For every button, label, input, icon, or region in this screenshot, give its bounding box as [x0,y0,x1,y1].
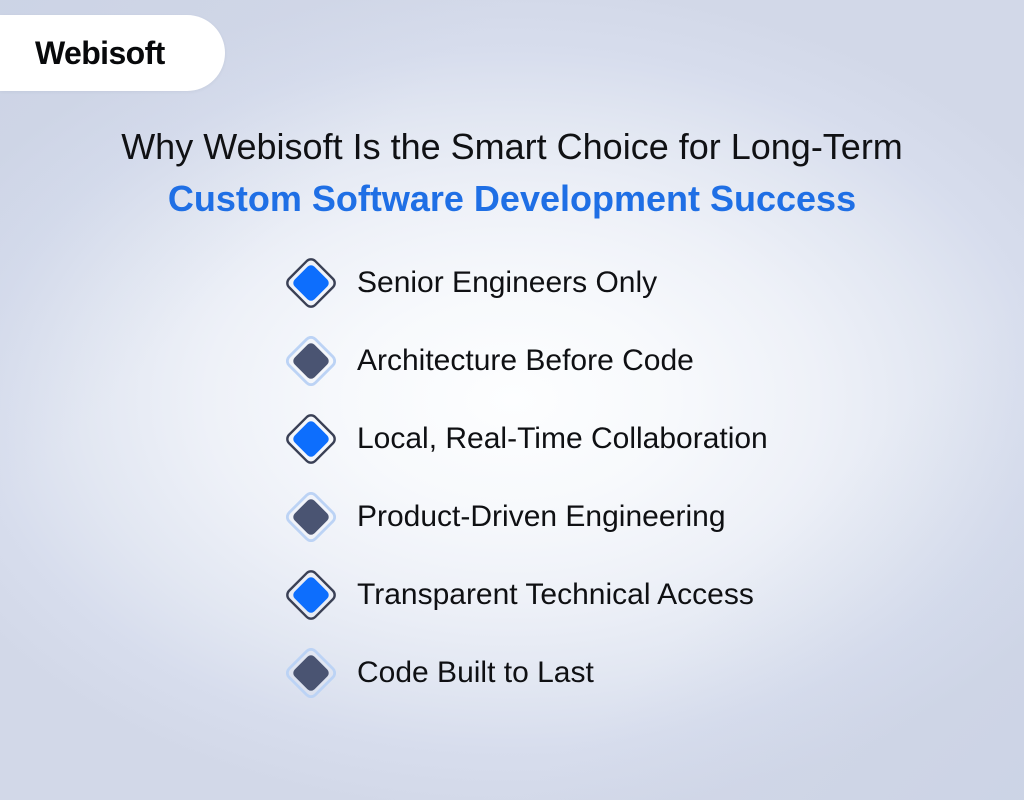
slide-canvas: Webisoft Why Webisoft Is the Smart Choic… [0,0,1024,800]
diamond-icon [286,648,336,698]
list-item: Local, Real-Time Collaboration [286,411,986,467]
list-item-label: Product-Driven Engineering [357,500,726,534]
list-item-label: Local, Real-Time Collaboration [357,422,768,456]
diamond-icon [286,336,336,386]
list-item-label: Transparent Technical Access [357,578,754,612]
list-item: Product-Driven Engineering [286,489,986,545]
diamond-icon [286,570,336,620]
diamond-icon [286,492,336,542]
diamond-icon [286,414,336,464]
list-item-label: Architecture Before Code [357,344,694,378]
diamond-icon [286,258,336,308]
page-title: Why Webisoft Is the Smart Choice for Lon… [0,124,1024,222]
list-item-label: Senior Engineers Only [357,266,657,300]
list-item: Code Built to Last [286,645,986,701]
list-item: Architecture Before Code [286,333,986,389]
brand-logo-badge[interactable]: Webisoft [0,15,225,91]
list-item: Transparent Technical Access [286,567,986,623]
list-item-label: Code Built to Last [357,656,594,690]
feature-list: Senior Engineers Only Architecture Befor… [286,255,986,701]
page-title-line-2: Custom Software Development Success [0,176,1024,222]
page-title-line-1: Why Webisoft Is the Smart Choice for Lon… [0,124,1024,170]
brand-logo-text: Webisoft [35,35,165,72]
list-item: Senior Engineers Only [286,255,986,311]
